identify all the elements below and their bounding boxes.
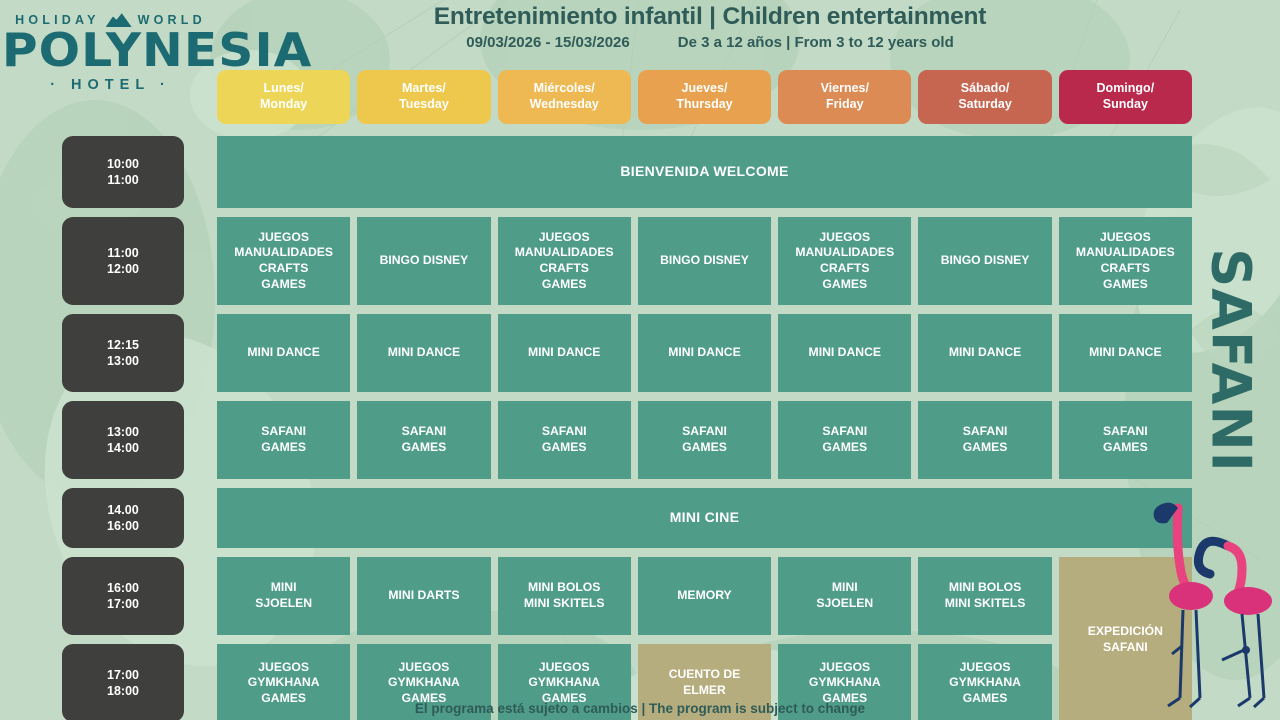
activity-cell[interactable]: MEMORY — [638, 557, 771, 635]
activity-cell[interactable]: MINI DANCE — [638, 314, 771, 392]
activity-cell[interactable]: MINI BOLOS MINI SKITELS — [918, 557, 1051, 635]
time-start: 16:00 — [107, 580, 139, 596]
activity-cell[interactable]: SAFANI GAMES — [918, 401, 1051, 479]
time-end: 12:00 — [107, 261, 139, 277]
day-header-6[interactable]: Domingo/ Sunday — [1059, 70, 1192, 124]
time-end: 18:00 — [107, 683, 139, 699]
time-slot-4: 14.0016:00 — [62, 488, 184, 548]
schedule-grid: BIENVENIDA WELCOMEJUEGOS MANUALIDADES CR… — [217, 136, 1192, 720]
day-header-5[interactable]: Sábado/ Saturday — [918, 70, 1051, 124]
time-start: 10:00 — [107, 156, 139, 172]
activity-cell[interactable]: MINI DANCE — [1059, 314, 1192, 392]
activity-cell[interactable]: SAFANI GAMES — [357, 401, 490, 479]
logo-name: POLYNESIA — [2, 29, 219, 73]
schedule-row-4: MINI CINE — [217, 488, 1192, 548]
footer-note: El programa está sujeto a cambios | The … — [0, 701, 1280, 716]
flamingo-right-icon — [1198, 541, 1272, 707]
time-start: 17:00 — [107, 667, 139, 683]
day-header-2[interactable]: Miércoles/ Wednesday — [498, 70, 631, 124]
age-range: De 3 a 12 años | From 3 to 12 years old — [678, 34, 954, 51]
side-safani-watermark: SAFANI — [1196, 185, 1266, 535]
schedule-row-1: JUEGOS MANUALIDADES CRAFTS GAMESBINGO DI… — [217, 217, 1192, 305]
day-header-3[interactable]: Jueves/ Thursday — [638, 70, 771, 124]
activity-cell[interactable]: JUEGOS MANUALIDADES CRAFTS GAMES — [1059, 217, 1192, 305]
activity-cell[interactable]: MINI BOLOS MINI SKITELS — [498, 557, 631, 635]
side-safani-text: SAFANI — [1200, 248, 1263, 472]
activity-cell[interactable]: EXPEDICIÓN SAFANI — [1059, 557, 1192, 720]
schedule-row-3: SAFANI GAMESSAFANI GAMESSAFANI GAMESSAFA… — [217, 401, 1192, 479]
time-start: 14.00 — [107, 502, 138, 518]
activity-cell[interactable]: SAFANI GAMES — [498, 401, 631, 479]
activity-cell[interactable]: SAFANI GAMES — [1059, 401, 1192, 479]
time-end: 13:00 — [107, 353, 139, 369]
day-header-0[interactable]: Lunes/ Monday — [217, 70, 350, 124]
time-start: 11:00 — [107, 245, 138, 261]
time-slot-0: 10:0011:00 — [62, 136, 184, 208]
hotel-logo: HOLIDAY WORLD POLYNESIA · HOTEL · — [8, 6, 213, 126]
activity-cell[interactable]: MINI DANCE — [498, 314, 631, 392]
activity-cell[interactable]: MINI SJOELEN — [778, 557, 911, 635]
page-header: Entretenimiento infantil | Children ente… — [215, 2, 1205, 51]
time-start: 12:15 — [107, 337, 139, 353]
day-header-1[interactable]: Martes/ Tuesday — [357, 70, 490, 124]
activity-cell-fullwidth[interactable]: MINI CINE — [217, 488, 1192, 548]
header-subline: 09/03/2026 - 15/03/2026 De 3 a 12 años |… — [215, 34, 1205, 51]
activity-cell[interactable]: JUEGOS MANUALIDADES CRAFTS GAMES — [498, 217, 631, 305]
activity-cell[interactable]: BINGO DISNEY — [357, 217, 490, 305]
activity-cell[interactable]: SAFANI GAMES — [778, 401, 911, 479]
activity-cell[interactable]: BINGO DISNEY — [638, 217, 771, 305]
date-range: 09/03/2026 - 15/03/2026 — [466, 34, 629, 51]
activity-cell[interactable]: MINI DANCE — [217, 314, 350, 392]
schedule-row-0: BIENVENIDA WELCOME — [217, 136, 1192, 208]
activity-cell[interactable]: BINGO DISNEY — [918, 217, 1051, 305]
activity-cell[interactable]: JUEGOS MANUALIDADES CRAFTS GAMES — [778, 217, 911, 305]
time-end: 17:00 — [107, 596, 139, 612]
time-start: 13:00 — [107, 424, 139, 440]
activity-cell[interactable]: MINI DARTS — [357, 557, 490, 635]
page-title: Entretenimiento infantil | Children ente… — [215, 2, 1205, 31]
time-end: 16:00 — [107, 518, 139, 534]
time-slot-5: 16:0017:00 — [62, 557, 184, 635]
activity-cell[interactable]: SAFANI GAMES — [638, 401, 771, 479]
activity-cell[interactable]: MINI DANCE — [778, 314, 911, 392]
time-slot-3: 13:0014:00 — [62, 401, 184, 479]
logo-subtitle: · HOTEL · — [8, 77, 213, 93]
activity-cell[interactable]: MINI DANCE — [918, 314, 1051, 392]
day-header-bar: Lunes/ MondayMartes/ TuesdayMiércoles/ W… — [217, 70, 1192, 124]
time-end: 11:00 — [107, 172, 138, 188]
time-slot-2: 12:1513:00 — [62, 314, 184, 392]
activity-cell[interactable]: MINI SJOELEN — [217, 557, 350, 635]
time-end: 14:00 — [107, 440, 139, 456]
activity-cell[interactable]: MINI DANCE — [357, 314, 490, 392]
activity-cell-fullwidth[interactable]: BIENVENIDA WELCOME — [217, 136, 1192, 208]
activity-cell[interactable]: SAFANI GAMES — [217, 401, 350, 479]
time-slot-column: 10:0011:0011:0012:0012:1513:0013:0014:00… — [62, 136, 184, 720]
schedule-row-2: MINI DANCEMINI DANCEMINI DANCEMINI DANCE… — [217, 314, 1192, 392]
day-header-4[interactable]: Viernes/ Friday — [778, 70, 911, 124]
schedule-row-5: MINI SJOELENMINI DARTSMINI BOLOS MINI SK… — [217, 557, 1192, 720]
time-slot-1: 11:0012:00 — [62, 217, 184, 305]
activity-cell[interactable]: JUEGOS MANUALIDADES CRAFTS GAMES — [217, 217, 350, 305]
